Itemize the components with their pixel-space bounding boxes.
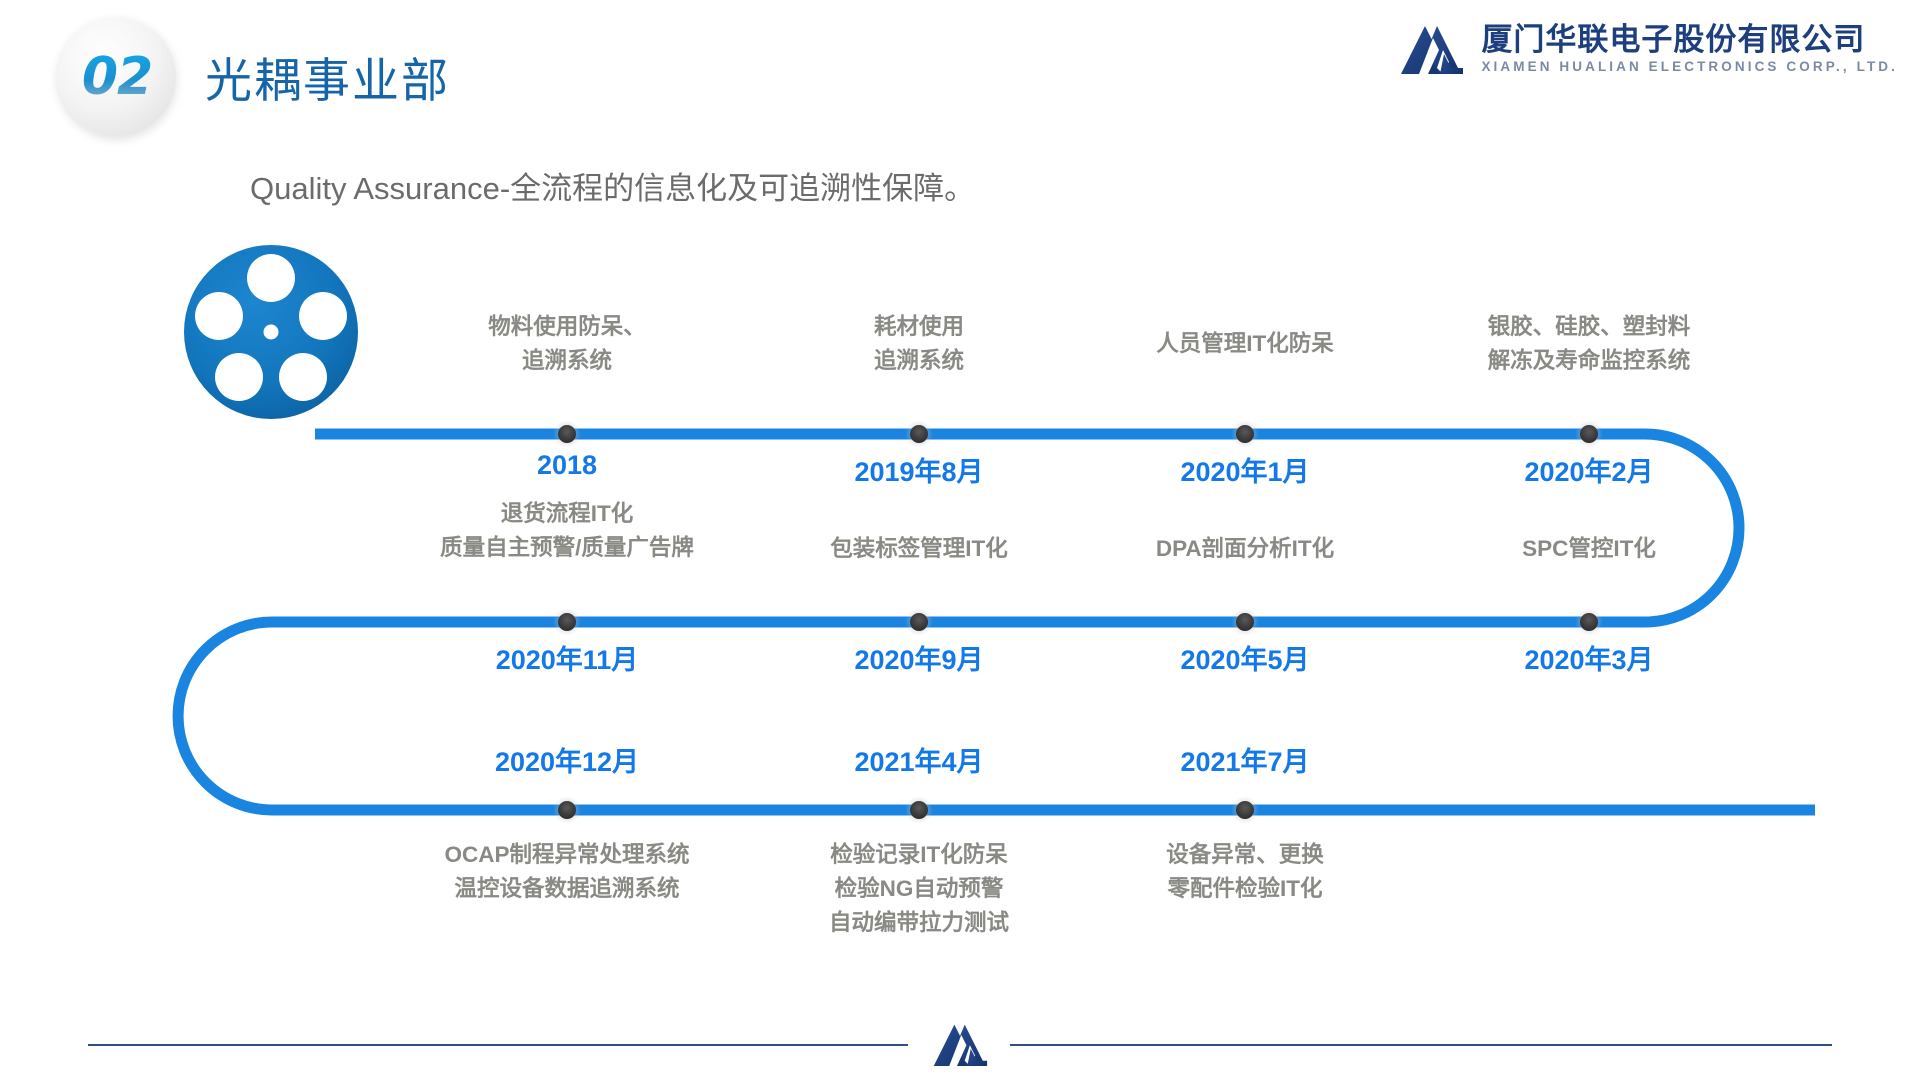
timeline-desc-line: DPA剖面分析IT化 <box>1065 532 1425 566</box>
timeline-desc: 退货流程IT化 质量自主预警/质量广告牌 <box>387 497 747 565</box>
timeline-desc: SPC管控IT化 <box>1409 532 1769 566</box>
timeline-date: 2019年8月 <box>739 450 1099 489</box>
timeline-desc-line: 物料使用防呆、 <box>387 310 747 344</box>
timeline-desc-line: 退货流程IT化 <box>387 497 747 531</box>
footer <box>0 1022 1920 1080</box>
timeline-date: 2020年5月 <box>1065 638 1425 677</box>
timeline-desc-line: SPC管控IT化 <box>1409 532 1769 566</box>
timeline-desc: 银胶、硅胶、塑封料 解冻及寿命监控系统 <box>1409 310 1769 378</box>
timeline-date: 2020年11月 <box>387 638 747 677</box>
timeline-desc-line: 检验NG自动预警 <box>739 872 1099 906</box>
timeline-date: 2021年4月 <box>739 740 1099 779</box>
timeline-desc-line: 追溯系统 <box>387 344 747 378</box>
timeline-desc-line: 包装标签管理IT化 <box>739 532 1099 566</box>
footer-divider-right <box>1010 1044 1832 1046</box>
timeline-desc-line: 人员管理IT化防呆 <box>1065 327 1425 361</box>
timeline-desc-line: OCAP制程异常处理系统 <box>387 838 747 872</box>
timeline-desc: 检验记录IT化防呆 检验NG自动预警 自动编带拉力测试 <box>739 838 1099 941</box>
timeline-date: 2021年7月 <box>1065 740 1425 779</box>
timeline-desc-line: 自动编带拉力测试 <box>739 906 1099 940</box>
timeline-desc-line: 设备异常、更换 <box>1065 838 1425 872</box>
timeline-desc: 人员管理IT化防呆 <box>1065 327 1425 361</box>
timeline-date: 2020年3月 <box>1409 638 1769 677</box>
timeline-desc-line: 耗材使用 <box>739 310 1099 344</box>
timeline-desc-line: 质量自主预警/质量广告牌 <box>387 531 747 565</box>
timeline-desc: OCAP制程异常处理系统 温控设备数据追溯系统 <box>387 838 747 906</box>
timeline-desc: DPA剖面分析IT化 <box>1065 532 1425 566</box>
timeline-date: 2018 <box>387 450 747 481</box>
timeline-desc: 设备异常、更换 零配件检验IT化 <box>1065 838 1425 906</box>
hl-monogram-icon <box>932 1022 994 1077</box>
timeline-desc-line: 解冻及寿命监控系统 <box>1409 344 1769 378</box>
timeline-date: 2020年2月 <box>1409 450 1769 489</box>
timeline-desc: 耗材使用 追溯系统 <box>739 310 1099 378</box>
timeline-date: 2020年12月 <box>387 740 747 779</box>
timeline-date: 2020年9月 <box>739 638 1099 677</box>
timeline-desc: 物料使用防呆、 追溯系统 <box>387 310 747 378</box>
timeline-desc-line: 检验记录IT化防呆 <box>739 838 1099 872</box>
timeline-desc: 包装标签管理IT化 <box>739 532 1099 566</box>
timeline-desc-line: 追溯系统 <box>739 344 1099 378</box>
timeline-desc-line: 银胶、硅胶、塑封料 <box>1409 310 1769 344</box>
timeline-date: 2020年1月 <box>1065 450 1425 489</box>
timeline-desc-line: 温控设备数据追溯系统 <box>387 872 747 906</box>
timeline-desc-line: 零配件检验IT化 <box>1065 872 1425 906</box>
footer-divider-left <box>88 1044 908 1046</box>
